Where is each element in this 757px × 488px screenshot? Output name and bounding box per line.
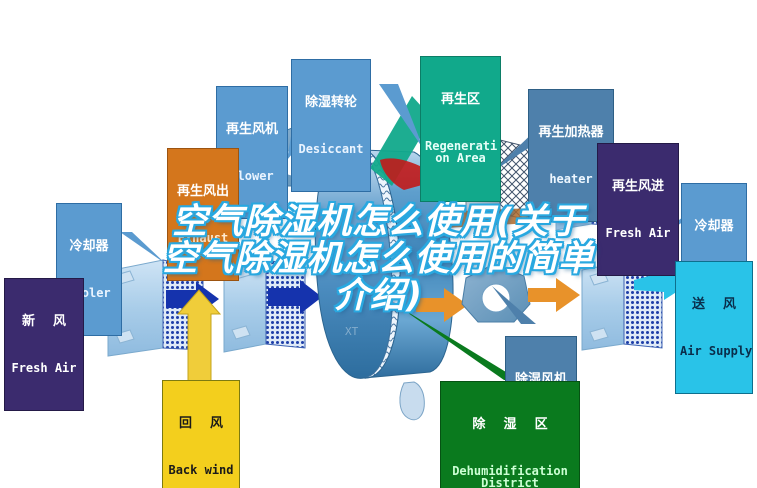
label-regeneration-area-cn: 再生区 [425,93,496,107]
svg-text:XT: XT [345,325,359,338]
label-air-supply-cn: 送 风 [680,298,748,312]
label-exhaust-cn: 再生风出 [172,185,234,199]
label-air-supply: 送 风 Air Supply [675,261,753,394]
label-dehumidification-district-en: Dehumidification District [445,465,575,488]
label-regen-fresh-air-in-cn: 再生风进 [602,180,674,194]
label-fresh-air-in: 新 风 Fresh Air [4,278,84,411]
label-dehumidification-district: 除 湿 区 Dehumidification District [440,381,580,488]
label-desiccant-wheel-cn: 除湿转轮 [296,96,366,110]
label-exhaust: 再生风出 Exhaust [167,148,239,281]
label-desiccant-wheel-en: Desiccant [296,143,366,156]
label-regen-fresh-air-in: 再生风进 Fresh Air [597,143,679,276]
label-dehumidification-district-cn: 除 湿 区 [445,418,575,432]
label-regen-fresh-air-in-en: Fresh Air [602,227,674,240]
diagram-canvas: XT [0,0,757,488]
rotor-drain [400,382,424,420]
label-desiccant-wheel: 除湿转轮 Desiccant [291,59,371,192]
label-regeneration-area-en: Regenerati on Area [425,140,496,165]
label-regen-blower-cn: 再生风机 [221,123,283,137]
label-fresh-air-in-cn: 新 风 [9,315,79,329]
label-back-wind: 回 风 Back wind [162,380,240,488]
label-fresh-air-in-en: Fresh Air [9,362,79,375]
label-exhaust-en: Exhaust [172,232,234,245]
dry-air-arrow-2 [528,278,580,312]
label-air-supply-en: Air Supply [680,345,748,358]
label-cooler-right-cn: 冷却器 [686,220,742,234]
label-cooler-left-cn: 冷却器 [61,240,117,254]
label-back-wind-en: Back wind [167,464,235,477]
label-regen-heater-cn: 再生加热器 [533,126,609,140]
label-back-wind-cn: 回 风 [167,417,235,431]
label-regeneration-area: 再生区 Regenerati on Area [420,56,501,202]
